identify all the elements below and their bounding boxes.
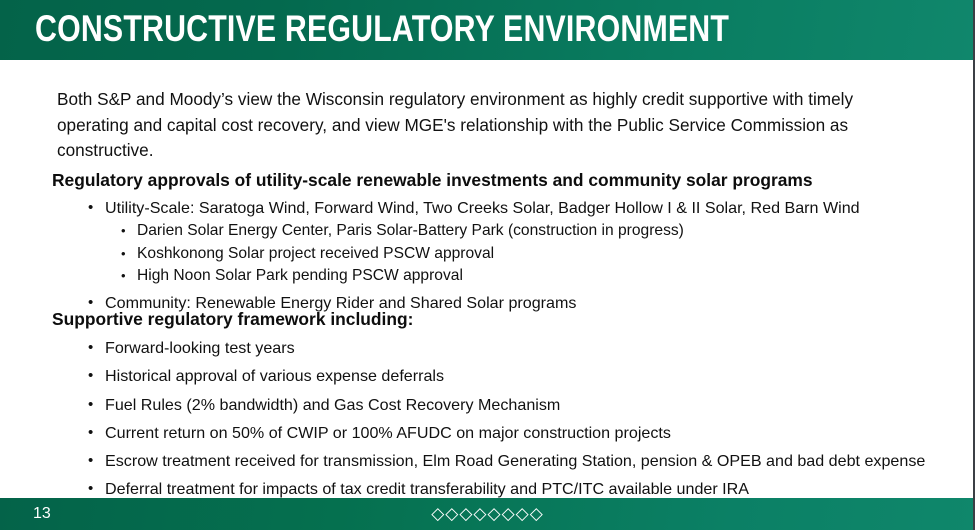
list-item: • Escrow treatment received for transmis… [0, 449, 925, 473]
intro-paragraph: Both S&P and Moody’s view the Wisconsin … [57, 87, 869, 164]
diamond-ornament-icon: ◇◇◇◇◇◇◇◇ [0, 504, 975, 524]
slide-header-band: CONSTRUCTIVE REGULATORY ENVIRONMENT [0, 0, 975, 60]
list-item: • Darien Solar Energy Center, Paris Sola… [0, 220, 860, 243]
list-item: • Fuel Rules (2% bandwidth) and Gas Cost… [0, 393, 925, 417]
list-item-label: Utility-Scale: Saratoga Wind, Forward Wi… [105, 196, 860, 220]
section-heading-supportive-framework: Supportive regulatory framework includin… [52, 309, 413, 330]
bullet-dot-icon: • [88, 421, 93, 445]
list-item-label: Forward-looking test years [105, 336, 295, 360]
list-item-label: Darien Solar Energy Center, Paris Solar-… [137, 220, 684, 243]
list-item-label: Escrow treatment received for transmissi… [105, 449, 925, 473]
list-item: • Historical approval of various expense… [0, 364, 925, 388]
list-item-label: Koshkonong Solar project received PSCW a… [137, 243, 494, 266]
list-item: • Koshkonong Solar project received PSCW… [0, 243, 860, 266]
bullet-dot-icon: • [121, 243, 126, 266]
list-item: • High Noon Solar Park pending PSCW appr… [0, 265, 860, 288]
bullet-dot-icon: • [88, 196, 93, 220]
list-item-label: High Noon Solar Park pending PSCW approv… [137, 265, 463, 288]
slide-body: Both S&P and Moody’s view the Wisconsin … [0, 60, 975, 498]
bullet-dot-icon: • [88, 393, 93, 417]
bullet-dot-icon: • [121, 220, 126, 243]
bullet-dot-icon: • [121, 265, 126, 288]
list-item-label: Current return on 50% of CWIP or 100% AF… [105, 421, 671, 445]
list-item: • Current return on 50% of CWIP or 100% … [0, 421, 925, 445]
section-heading-regulatory-approvals: Regulatory approvals of utility-scale re… [52, 170, 813, 191]
slide-footer-band: 13 ◇◇◇◇◇◇◇◇ [0, 498, 975, 530]
bullet-dot-icon: • [88, 364, 93, 388]
bullet-dot-icon: • [88, 449, 93, 473]
slide-title: CONSTRUCTIVE REGULATORY ENVIRONMENT [35, 6, 729, 51]
list-item: • Utility-Scale: Saratoga Wind, Forward … [0, 196, 860, 220]
slide: CONSTRUCTIVE REGULATORY ENVIRONMENT Both… [0, 0, 975, 530]
list-item-label: Fuel Rules (2% bandwidth) and Gas Cost R… [105, 393, 560, 417]
bullet-list-regulatory-approvals: • Utility-Scale: Saratoga Wind, Forward … [0, 196, 860, 315]
list-item: • Forward-looking test years [0, 336, 925, 360]
bullet-list-supportive-framework: • Forward-looking test years • Historica… [0, 336, 925, 502]
bullet-dot-icon: • [88, 336, 93, 360]
list-item-label: Historical approval of various expense d… [105, 364, 444, 388]
